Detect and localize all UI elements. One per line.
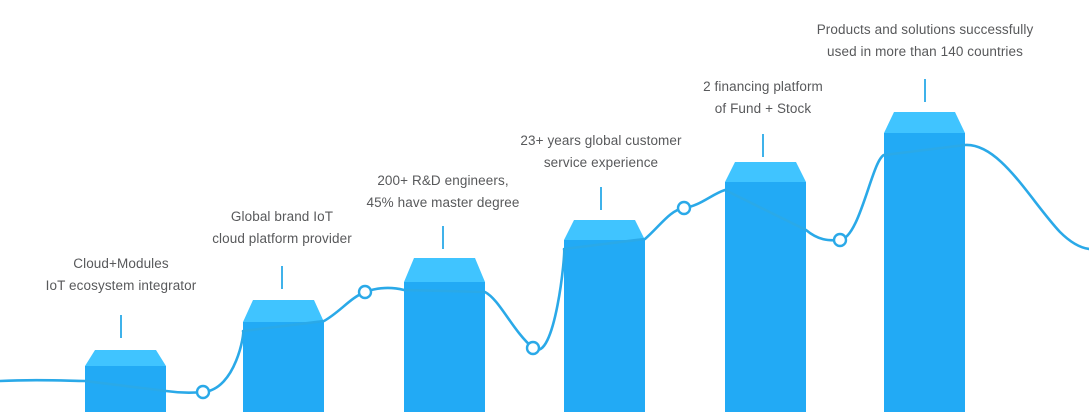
bar-2-top-face	[243, 300, 324, 322]
trend-marker-1[interactable]	[197, 386, 209, 398]
milestone-label-3-line-2: 45% have master degree	[322, 192, 564, 214]
bar-1[interactable]	[85, 350, 166, 412]
trend-marker-4[interactable]	[678, 202, 690, 214]
milestone-label-5-line-1: 2 financing platform	[642, 76, 884, 98]
trend-marker-3[interactable]	[527, 342, 539, 354]
trend-marker-5[interactable]	[834, 234, 846, 246]
bar-6[interactable]	[884, 112, 965, 412]
milestone-label-1-line-2: IoT ecosystem integrator	[0, 275, 242, 297]
bar-3-body	[404, 282, 485, 412]
bar-4-top-face	[564, 220, 645, 240]
milestone-label-6: Products and solutions successfully used…	[765, 19, 1085, 63]
bar-2-body	[243, 322, 324, 412]
bar-6-top-face	[884, 112, 965, 133]
growth-milestones-infographic: Cloud+Modules IoT ecosystem integrator G…	[0, 0, 1089, 412]
trend-marker-2[interactable]	[359, 286, 371, 298]
milestone-label-5: 2 financing platform of Fund + Stock	[642, 76, 884, 120]
bar-5-body	[725, 182, 806, 412]
bar-3[interactable]	[404, 258, 485, 412]
milestone-label-1-line-1: Cloud+Modules	[0, 253, 242, 275]
milestone-label-4-line-1: 23+ years global customer	[470, 130, 732, 152]
bar-6-body	[884, 133, 965, 412]
milestone-label-6-line-2: used in more than 140 countries	[765, 41, 1085, 63]
bar-4-body	[564, 240, 645, 412]
bar-5[interactable]	[725, 162, 806, 412]
milestone-label-1: Cloud+Modules IoT ecosystem integrator	[0, 253, 242, 297]
milestone-label-5-line-2: of Fund + Stock	[642, 98, 884, 120]
bar-3-top-face	[404, 258, 485, 282]
bar-2[interactable]	[243, 300, 324, 412]
milestone-label-4-line-2: service experience	[470, 152, 732, 174]
milestone-label-2-line-2: cloud platform provider	[161, 228, 403, 250]
bar-1-top-face	[85, 350, 166, 366]
milestone-label-4: 23+ years global customer service experi…	[470, 130, 732, 174]
milestone-label-6-line-1: Products and solutions successfully	[765, 19, 1085, 41]
bar-5-top-face	[725, 162, 806, 182]
milestone-label-3: 200+ R&D engineers, 45% have master degr…	[322, 170, 564, 214]
